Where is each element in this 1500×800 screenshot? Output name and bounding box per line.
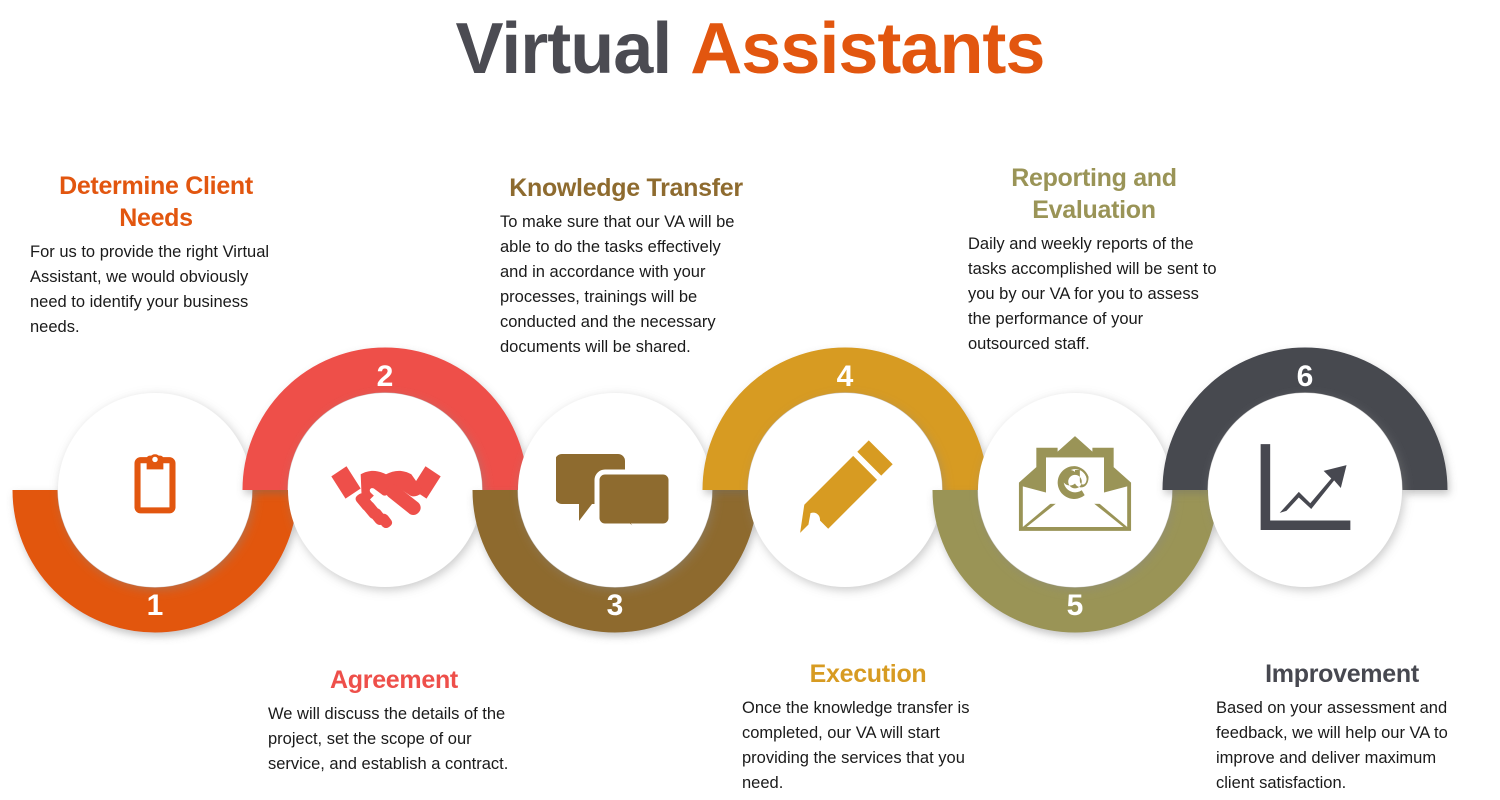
step-number-3: 3 — [607, 589, 624, 622]
step-heading-5: Reporting and Evaluation — [968, 162, 1220, 226]
step-circle-3[interactable]: 3 — [495, 393, 735, 622]
step-number-5: 5 — [1067, 589, 1084, 622]
step-circle-4[interactable]: 4 — [725, 360, 965, 587]
step-text-2: Agreement We will discuss the details of… — [268, 664, 520, 777]
step-disc-2 — [288, 393, 482, 587]
step-heading-3: Knowledge Transfer — [500, 172, 752, 204]
email-at-icon — [1019, 436, 1131, 531]
step-circle-6[interactable]: 6 — [1185, 360, 1425, 587]
step-number-2: 2 — [377, 360, 394, 393]
step-body-4: Once the knowledge transfer is completed… — [742, 696, 994, 796]
step-heading-4: Execution — [742, 658, 994, 690]
step-heading-1: Determine Client Needs — [30, 170, 282, 234]
infographic-page: Virtual Assistants — [0, 0, 1500, 800]
step-disc-3 — [518, 393, 712, 587]
step-arc-1 — [35, 490, 275, 610]
step-disc-5 — [978, 393, 1172, 587]
pencil-icon — [800, 440, 893, 533]
step-circle-5[interactable]: 5 — [955, 393, 1195, 622]
step-disc-1 — [58, 393, 252, 587]
step-arc-2 — [265, 370, 505, 490]
step-text-3: Knowledge Transfer To make sure that our… — [500, 172, 752, 360]
step-heading-2: Agreement — [268, 664, 520, 696]
title-word-virtual: Virtual — [456, 9, 672, 89]
speech-bubbles-icon — [555, 454, 671, 542]
step-disc-4 — [748, 393, 942, 587]
step-arc-4 — [725, 370, 965, 490]
step-body-3: To make sure that our VA will be able to… — [500, 210, 752, 360]
step-number-4: 4 — [837, 360, 854, 393]
step-text-4: Execution Once the knowledge transfer is… — [742, 658, 994, 796]
step-text-6: Improvement Based on your assessment and… — [1216, 658, 1468, 796]
step-body-1: For us to provide the right Virtual Assi… — [30, 240, 282, 340]
step-circle-1[interactable]: 1 — [35, 393, 275, 622]
step-body-6: Based on your assessment and feedback, w… — [1216, 696, 1468, 796]
title-word-assistants: Assistants — [690, 9, 1044, 89]
step-text-5: Reporting and Evaluation Daily and weekl… — [968, 162, 1220, 357]
step-number-6: 6 — [1297, 360, 1314, 393]
growth-chart-icon — [1261, 444, 1351, 530]
step-body-2: We will discuss the details of the proje… — [268, 702, 520, 777]
step-disc-6 — [1208, 393, 1402, 587]
step-arc-3 — [495, 490, 735, 610]
page-title: Virtual Assistants — [0, 8, 1500, 91]
step-number-1: 1 — [147, 589, 164, 622]
step-body-5: Daily and weekly reports of the tasks ac… — [968, 232, 1220, 357]
handshake-icon — [331, 466, 440, 528]
clipboard-icon — [134, 454, 175, 513]
step-circle-2[interactable]: 2 — [265, 360, 505, 587]
step-heading-6: Improvement — [1216, 658, 1468, 690]
step-text-1: Determine Client Needs For us to provide… — [30, 170, 282, 340]
step-arc-5 — [955, 490, 1195, 610]
step-arc-6 — [1185, 370, 1425, 490]
